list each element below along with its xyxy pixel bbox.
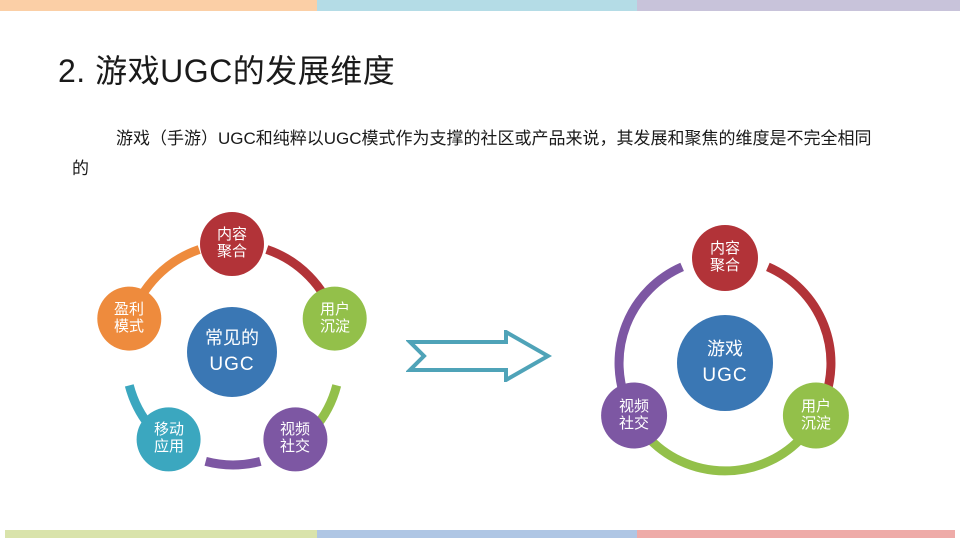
left-node-circle-content: [200, 212, 264, 276]
right-node-circle-content: [692, 225, 758, 291]
top-bar-segment-3: [637, 0, 960, 11]
right-hub-circle: [677, 315, 773, 411]
left-node-circle-video: [263, 407, 327, 471]
body-paragraph: 游戏（手游）UGC和纯粹以UGC模式作为支撑的社区或产品来说，其发展和聚焦的维度…: [72, 124, 872, 184]
top-bar-segment-2: [317, 0, 637, 11]
bottom-bar-segment-1: [5, 530, 317, 538]
bottom-decor-bar: [5, 530, 955, 538]
top-decor-bar: [0, 0, 960, 11]
right-cycle-diagram: 游戏 UGC 内容 聚合 用户 沉淀 视频 社交: [594, 232, 856, 494]
slide-canvas: 2. 游戏UGC的发展维度 游戏（手游）UGC和纯粹以UGC模式作为支撑的社区或…: [0, 0, 960, 540]
right-arc-user-to-video: [647, 436, 804, 471]
top-bar-segment-1: [0, 0, 317, 11]
bottom-bar-segment-2: [317, 530, 637, 538]
left-cycle-diagram: 常见的 UGC 内容 聚合 用户 沉淀 视频 社交 移动 应用 盈利 模式: [92, 212, 374, 494]
arrow-right-icon: [410, 332, 548, 380]
right-node-circle-video: [601, 383, 667, 449]
transition-arrow: [406, 330, 552, 387]
left-hub-circle: [187, 307, 277, 397]
left-node-circle-profit: [97, 287, 161, 351]
left-node-circle-user: [303, 287, 367, 351]
left-node-circle-mobile: [137, 407, 201, 471]
right-node-circle-user: [783, 383, 849, 449]
bottom-bar-segment-3: [637, 530, 955, 538]
left-arc-video-to-mobile: [206, 461, 261, 465]
page-title: 2. 游戏UGC的发展维度: [58, 46, 395, 92]
